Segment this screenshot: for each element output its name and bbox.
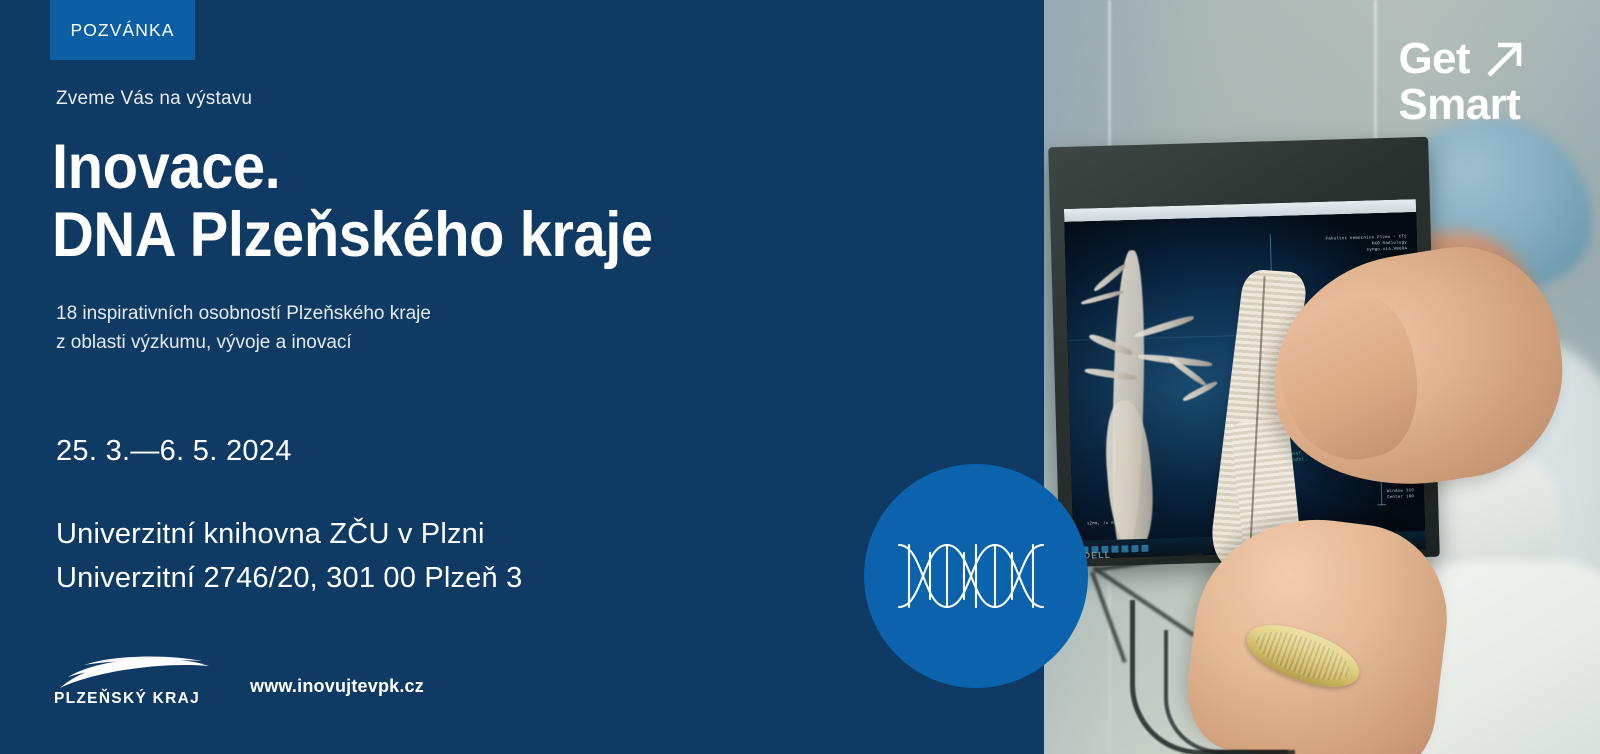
venue-name: Univerzitní knihovna ZČU v Plzni	[56, 512, 522, 556]
plzensky-kraj-logo: PLZEŇSKÝ KRAJ	[54, 652, 214, 708]
subtitle: 18 inspirativních osobností Plzeňského k…	[56, 300, 431, 357]
screen-label-left: 12mm, 75 ms	[1087, 521, 1117, 528]
plzensky-kraj-wordmark: PLZEŇSKÝ KRAJ	[54, 690, 200, 708]
stand-leg	[1094, 553, 1203, 572]
dna-badge	[864, 464, 1088, 688]
toolbar-icon	[1131, 545, 1138, 552]
page-title: Inovace. DNA Plzeňského kraje	[52, 133, 653, 269]
get-smart-logo: Get Smart	[1398, 36, 1526, 128]
subtitle-line-1: 18 inspirativních osobností Plzeňského k…	[56, 300, 431, 329]
eyebrow-text: Zveme Vás na výstavu	[56, 88, 252, 110]
headline-line-1: Inovace.	[52, 133, 653, 201]
venue-address: Univerzitní 2746/20, 301 00 Plzeň 3	[56, 556, 522, 600]
event-venue: Univerzitní knihovna ZČU v Plzni Univerz…	[56, 512, 522, 600]
toolbar-icon	[1111, 545, 1118, 552]
invitation-badge-label: POZVÁNKA	[70, 20, 174, 41]
get-smart-line-1: Get	[1398, 36, 1470, 82]
website-url: www.inovujtevpk.cz	[250, 676, 424, 697]
subtitle-line-2: z oblasti výzkumu, vývoje a inovací	[56, 329, 431, 358]
headline-line-2: DNA Plzeňského kraje	[52, 201, 653, 269]
dna-helix-icon	[897, 539, 1055, 613]
invitation-badge: POZVÁNKA	[50, 0, 195, 60]
poster-canvas: Fakultni nemocnice Plzen - CT2 KKO Radio…	[0, 0, 1600, 754]
toolbar-icon	[1121, 545, 1128, 552]
screen-label-right: Window 350 Center 100	[1387, 488, 1414, 501]
screen-header-text: Fakultni nemocnice Plzen - CT2 KKO Radio…	[1325, 234, 1407, 255]
get-smart-line-2: Smart	[1398, 82, 1526, 128]
monitor-cable	[1164, 630, 1288, 754]
aorta-vessel	[1101, 399, 1157, 552]
diagonal-arrow-up-right-icon	[1482, 38, 1526, 82]
three-arcs-icon	[54, 652, 214, 692]
event-dates: 25. 3.—6. 5. 2024	[56, 435, 292, 468]
toolbar-icon	[1141, 544, 1148, 551]
